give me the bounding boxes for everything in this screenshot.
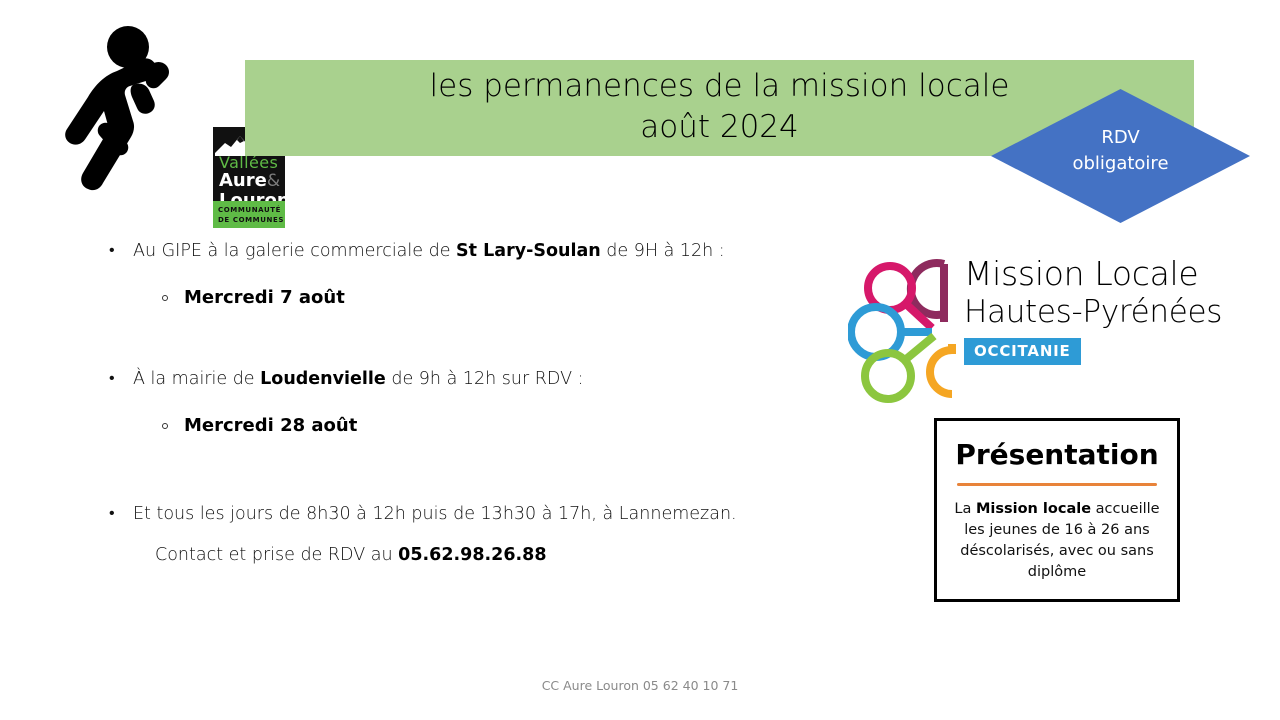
list-item-saint-lary: Au GIPE à la galerie commerciale de St L…: [105, 238, 865, 264]
rdv-obligatoire-badge: RDV obligatoire: [991, 89, 1250, 223]
occitanie-badge: OCCITANIE: [964, 338, 1081, 365]
rdv-badge-line-2: obligatoire: [991, 151, 1250, 177]
contact-line: Contact et prise de RDV au 05.62.98.26.8…: [105, 542, 865, 568]
spacer: [105, 264, 865, 285]
mission-locale-title: Mission Locale: [964, 254, 1198, 293]
cc-logo-vallees: Vallées: [219, 155, 278, 171]
list-item-loudenvielle: À la mairie de Loudenvielle de 9h à 12h …: [105, 366, 865, 392]
cc-logo-band-line-2: DE COMMUNES: [218, 216, 284, 224]
list-item-lannemezan: Et tous les jours de 8h30 à 12h puis de …: [105, 501, 865, 527]
running-person-icon: [55, 25, 205, 220]
mission-locale-logo: Mission Locale Hautes-Pyrénées OCCITANIE: [848, 248, 1184, 411]
spacer: [105, 439, 865, 501]
bullet1-text-pre: Au GIPE à la galerie commerciale de: [133, 241, 456, 261]
contact-label: Contact et prise de RDV au: [155, 545, 398, 565]
bullet2-location: Loudenvielle: [260, 369, 386, 389]
organisation-logo-block: Vallées Aure& Louron COMMUNAUTÉ DE COMMU…: [55, 25, 245, 215]
bullet1-text-post: de 9H à 12h :: [601, 241, 725, 261]
presentation-body-pre: La: [954, 501, 976, 517]
bullet1-location: St Lary-Soulan: [456, 241, 601, 261]
presentation-title: Présentation: [937, 438, 1177, 471]
rdv-badge-line-1: RDV: [991, 125, 1250, 151]
footer-text: CC Aure Louron 05 62 40 10 71: [0, 678, 1280, 693]
contact-phone-number: 05.62.98.26.88: [398, 545, 546, 565]
bullet2-text-post: de 9h à 12h sur RDV :: [386, 369, 584, 389]
cc-logo-aure-row: Aure&: [219, 172, 280, 190]
cc-logo-band-line-1: COMMUNAUTÉ: [218, 206, 281, 214]
presentation-body: La Mission locale accueille les jeunes d…: [947, 499, 1167, 583]
spacer: [105, 527, 865, 542]
list-item-date-7-aout: Mercredi 7 août: [105, 285, 865, 311]
spacer: [105, 392, 865, 413]
cc-logo-ampersand: &: [267, 171, 280, 191]
cc-logo-green-band: COMMUNAUTÉ DE COMMUNES: [213, 201, 285, 228]
mission-locale-subtitle: Hautes-Pyrénées: [964, 294, 1222, 330]
bullet2-text-pre: À la mairie de: [133, 369, 260, 389]
mission-locale-mark-icon: [848, 250, 960, 415]
presentation-divider: [957, 483, 1157, 486]
presentation-box: Présentation La Mission locale accueille…: [934, 418, 1180, 602]
spacer: [105, 311, 865, 366]
list-item-date-28-aout: Mercredi 28 août: [105, 413, 865, 439]
cc-logo-aure: Aure: [219, 170, 267, 191]
rdv-badge-label: RDV obligatoire: [991, 125, 1250, 177]
presentation-body-bold: Mission locale: [976, 501, 1091, 517]
permanences-list: Au GIPE à la galerie commerciale de St L…: [105, 238, 865, 568]
